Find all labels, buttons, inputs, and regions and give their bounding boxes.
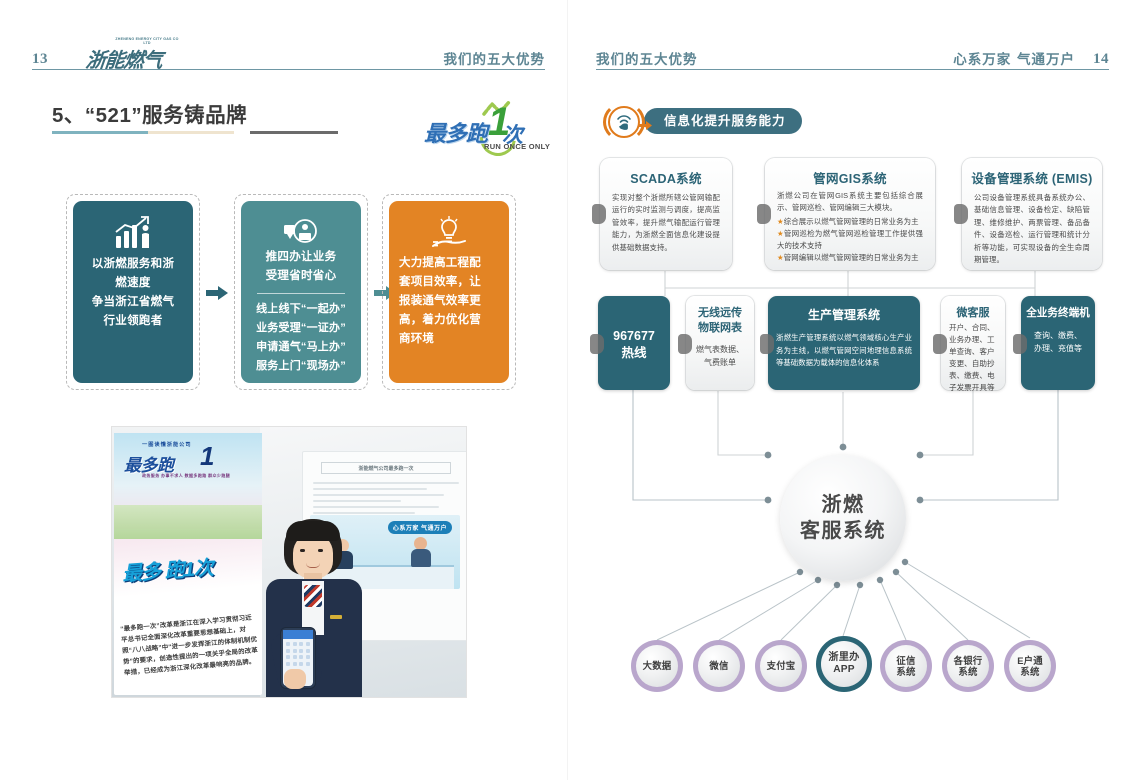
leaf-node-wechat-label: 微信 (709, 660, 728, 672)
flow-card-2-line-1: 推四办让业务 (249, 248, 353, 267)
photo-poster: 一图读懂浙能公司 最多跑 1 政务服务 办事不求人 数据多跑路 群众少跑腿 最多… (114, 433, 262, 695)
flow-card-2-item-2: 业务受理“一证办” (247, 319, 355, 338)
system-card-gis-bullet-1: ★综合展示以燃气管网管理的日常业务为主 (777, 216, 923, 228)
system-card-scada-title: SCADA系统 (606, 168, 726, 187)
leaf-node-credit-inner: 征信 系统 (885, 645, 927, 687)
star-icon: ★ (777, 253, 784, 262)
customer-service-hub[interactable]: 浙燃 客服系统 (780, 455, 906, 581)
leaf-node-wechat-inner: 微信 (698, 645, 740, 687)
flow-card-3-line-1: 大力提高工程配 (399, 254, 499, 273)
row-box-hotline-title: 967677 热线 (602, 328, 666, 362)
row-box-terminal[interactable]: 全业务终端机 查询、缴费、 办理、充值等 (1021, 296, 1095, 390)
star-icon: ★ (777, 217, 784, 226)
leaf-node-ehutong-label: E户通 系统 (1017, 655, 1043, 678)
flow-card-3[interactable]: 大力提高工程配 套项目效率，让 报装通气效率更 高，着力优化营 商环境 (389, 201, 509, 383)
system-card-emis[interactable]: 设备管理系统 (EMIS) 公司设备管理系统具备系统办公、基础信息管理、设备检定… (962, 158, 1102, 270)
title-underline-cream (148, 131, 234, 134)
flow-card-3-line-5: 商环境 (399, 330, 499, 349)
left-page-header: 13 ZHENENG ENERGY CITY GAS CO LTD 浙能燃气 我… (32, 40, 545, 70)
hub-line-1: 浙燃 (822, 492, 865, 518)
photo-person-badge (330, 615, 342, 619)
run-once-logo: 最多跑 1 次 RUN ONCE ONLY (424, 100, 544, 162)
photo-poster-number: 1 (200, 443, 214, 469)
row-box-terminal-title: 全业务终端机 (1025, 305, 1091, 320)
run-once-en: RUN ONCE ONLY (484, 142, 550, 151)
flow-card-1-line-2: 燃速度 (81, 274, 185, 293)
logo-chinese-text: 浙能燃气 (84, 44, 163, 73)
leaf-node-wechat[interactable]: 微信 (693, 640, 745, 692)
photo-illustration-banner: 心系万家 气通万户 (388, 521, 452, 534)
row-nub-1-icon (590, 334, 604, 354)
hub-line-2: 客服系统 (800, 518, 886, 544)
system-card-emis-body: 公司设备管理系统具备系统办公、基础信息管理、设备检定、缺陷管理、维修维护、两票管… (974, 192, 1090, 266)
leaf-node-banks-inner: 各银行 系统 (947, 645, 989, 687)
row-box-iot-meter-title: 无线远传 物联网表 (690, 306, 750, 336)
flow-card-row: 以浙燃服务和浙 燃速度 争当浙江省燃气 行业领跑者 (66, 194, 516, 390)
photo-phone-app-grid (286, 642, 310, 666)
photo-board-header-text: 浙能燃气公司最多跑一次 (322, 463, 450, 475)
row-box-production-body: 浙燃生产管理系统以燃气领域核心生产业务为主线，以燃气管网空间地理信息系统等基础数… (776, 332, 912, 370)
flow-card-2-item-4: 服务上门“现场办” (247, 357, 355, 376)
system-card-gis-bullet-2: ★管网巡检为燃气管网巡检管理工作提供强大的技术支持 (777, 228, 923, 253)
row-nub-5-icon (1013, 334, 1027, 354)
photo-poster-micro-text: 政务服务 办事不求人 数据多跑路 群众少跑腿 (142, 473, 230, 479)
header-title-left-page: 我们的五大优势 (444, 48, 546, 68)
photo-person-eye-left (300, 549, 305, 552)
row-nub-3-icon (760, 334, 774, 354)
card-nub-gis-icon (757, 204, 771, 224)
photo-person-eye-right (318, 549, 323, 552)
gis-bullet-2-text: 管网巡检为燃气管网巡检管理工作提供强大的技术支持 (777, 229, 923, 250)
page-number-left: 13 (32, 51, 48, 68)
touch-signal-icon (608, 106, 640, 138)
system-card-scada-body: 实现对整个浙燃所辖公管网输配运行的实时监测与调度，提高监管效率，提升燃气输配运行… (612, 192, 720, 254)
row-nub-4-icon (933, 334, 947, 354)
row-box-production-title: 生产管理系统 (772, 307, 916, 323)
star-icon: ★ (777, 229, 784, 238)
photo-poster-body: “最多跑一次”改革是浙江在深入学习贯彻习近平总书记全面深化改革重要思想基础上，对… (120, 612, 260, 679)
flow-card-1[interactable]: 以浙燃服务和浙 燃速度 争当浙江省燃气 行业领跑者 (73, 201, 193, 383)
system-card-gis[interactable]: 管网GIS系统 浙燃公司在管网GIS系统主要包括综合展示、管网巡检、管网编辑三大… (765, 158, 935, 270)
leaf-node-ehutong[interactable]: E户通 系统 (1004, 640, 1056, 692)
flow-card-2-item-3: 申请通气“马上办” (247, 338, 355, 357)
row-box-wechat-service[interactable]: 微客服 开户、合同、业务办理、工单查询、客户变更、自助抄表、缴费、电子发票开具等 (941, 296, 1005, 390)
spread-page: 13 ZHENENG ENERGY CITY GAS CO LTD 浙能燃气 我… (0, 0, 1135, 780)
system-card-scada[interactable]: SCADA系统 实现对整个浙燃所辖公管网输配运行的实时监测与调度，提高监管效率，… (600, 158, 732, 270)
header-slogan: 心系万家 气通万户 (953, 48, 1075, 68)
flow-card-3-line-4: 高，着力优化营 (399, 311, 499, 330)
leaf-node-alipay-label: 支付宝 (767, 660, 796, 672)
card-nub-emis-icon (954, 204, 968, 224)
leaf-node-alipay-inner: 支付宝 (760, 645, 802, 687)
leaf-node-banks[interactable]: 各银行 系统 (942, 640, 994, 692)
flow-card-2-divider (257, 293, 345, 294)
row-box-iot-meter[interactable]: 无线远传 物联网表 燃气表数据、 气费账单 (686, 296, 754, 390)
banner-label: 信息化提升服务能力 (644, 108, 802, 134)
leaf-node-zhelibanapp[interactable]: 浙里办 APP (816, 636, 872, 692)
photo-poster-title-2: 最多 跑1次 (121, 548, 257, 586)
photo-person (260, 519, 368, 697)
section-title: 5、“521”服务铸品牌 (52, 98, 247, 128)
bar-chart-growth-icon (73, 215, 193, 251)
system-card-gis-title: 管网GIS系统 (771, 168, 929, 187)
flow-card-2-line-2: 受理省时省心 (249, 267, 353, 286)
row-box-wechat-body: 开户、合同、业务办理、工单查询、客户变更、自助抄表、缴费、电子发票开具等 (949, 322, 997, 394)
title-underline-gap (234, 131, 250, 134)
photo-person-fringe (286, 521, 340, 541)
leaf-node-alipay[interactable]: 支付宝 (755, 640, 807, 692)
leaf-node-banks-label: 各银行 系统 (954, 655, 983, 678)
page-number-right: 14 (1093, 51, 1109, 68)
row-box-hotline[interactable]: 967677 热线 (598, 296, 670, 390)
header-rule-right (596, 69, 1109, 70)
title-underline-teal (52, 131, 148, 134)
service-photo: 浙能燃气公司最多跑一次 心系万家 气通万户 一图读懂浙能公司 最多跑 (112, 427, 466, 697)
row-box-terminal-body: 查询、缴费、 办理、充值等 (1029, 329, 1087, 355)
leaf-node-zhelibanapp-inner: 浙里办 APP (821, 641, 867, 687)
row-nub-2-icon (678, 334, 692, 354)
system-card-gis-body: 浙燃公司在管网GIS系统主要包括综合展示、管网巡检、管网编辑三大模块。 (777, 190, 923, 215)
flow-card-1-line-4: 行业领跑者 (81, 312, 185, 331)
flow-card-1-line-3: 争当浙江省燃气 (81, 293, 185, 312)
flow-card-3-line-2: 套项目效率，让 (399, 273, 499, 292)
system-card-gis-bullet-3: ★管网编辑以燃气管网管理的日常业务为主 (777, 252, 923, 264)
gis-bullet-1-text: 综合展示以燃气管网管理的日常业务为主 (784, 217, 919, 226)
card-nub-scada-icon (592, 204, 606, 224)
right-page-header: 我们的五大优势 心系万家 气通万户 14 (596, 40, 1109, 70)
photo-person-tie (304, 585, 322, 607)
leaf-node-credit-label: 征信 系统 (896, 655, 915, 678)
run-once-cn: 最多跑 (424, 116, 487, 148)
banner-arrow-icon (638, 117, 652, 135)
leaf-node-credit[interactable]: 征信 系统 (880, 640, 932, 692)
header-title-right-left: 我们的五大优势 (596, 48, 698, 68)
leaf-node-bigdata-inner: 大数据 (636, 645, 678, 687)
service-counter-icon (241, 215, 361, 251)
leaf-node-ehutong-inner: E户通 系统 (1009, 645, 1051, 687)
row-box-production-mgmt[interactable]: 生产管理系统 浙燃生产管理系统以燃气领域核心生产业务为主线，以燃气管网空间地理信… (768, 296, 920, 390)
flow-card-1-line-1: 以浙燃服务和浙 (81, 255, 185, 274)
row-box-iot-meter-body: 燃气表数据、 气费账单 (694, 343, 746, 369)
gis-bullet-3-text: 管网编辑以燃气管网管理的日常业务为主 (784, 253, 919, 262)
photo-person-hand (284, 669, 306, 689)
photo-illustration-body-2 (411, 549, 431, 567)
row-box-wechat-title: 微客服 (945, 304, 1001, 320)
company-logo: ZHENENG ENERGY CITY GAS CO LTD 浙能燃气 (86, 39, 182, 69)
photo-poster-subtitle: 一图读懂浙能公司 (142, 441, 192, 448)
title-underline-gray (250, 131, 338, 134)
photo-phone-app-header (283, 630, 313, 639)
flow-card-2[interactable]: 推四办让业务 受理省时省心 线上线下“一起办” 业务受理“一证办” 申请通气“马… (241, 201, 361, 383)
flow-card-3-line-3: 报装通气效率更 (399, 292, 499, 311)
photo-board-header: 浙能燃气公司最多跑一次 (321, 462, 451, 474)
leaf-node-bigdata[interactable]: 大数据 (631, 640, 683, 692)
leaf-node-zhelibanapp-label: 浙里办 APP (828, 652, 859, 676)
photo-poster-green-band (114, 505, 262, 539)
leaf-node-bigdata-label: 大数据 (643, 660, 672, 672)
system-card-emis-title: 设备管理系统 (EMIS) (968, 168, 1096, 187)
lightbulb-hand-icon (389, 215, 509, 251)
left-page: 13 ZHENENG ENERGY CITY GAS CO LTD 浙能燃气 我… (0, 0, 567, 780)
flow-card-2-item-1: 线上线下“一起办” (247, 300, 355, 319)
flow-arrow-1-icon (206, 286, 228, 300)
